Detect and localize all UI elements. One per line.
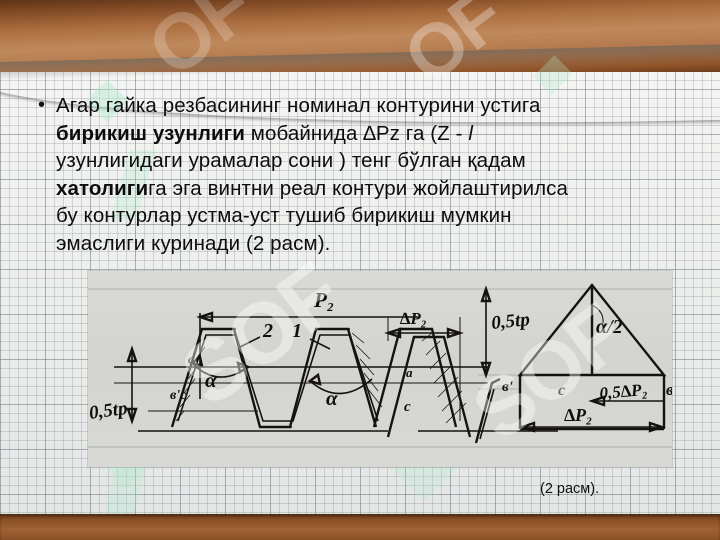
text-line-1: Агар гайка резбасининг номинал контурини… [56,92,568,120]
label-angle-left: α [205,368,217,392]
crest-flats-left [202,329,350,427]
label-point-bc: в'с [170,388,187,403]
label-half-thread-height-left: 0,5tp [88,398,129,424]
symbol-delta-pz: ∆Pz [363,122,400,145]
label-point-b-prime: в' [502,379,513,395]
label-half-thread-height-right: 0,5tp [490,309,531,334]
label-half-angle: α/2 [596,316,623,338]
symbol-l: l [468,122,473,145]
text-line-4: хатолигига эга винтни реал контури жойла… [56,175,568,203]
thread-profile-figure: P₂ ∆P₂ [88,271,672,467]
label-delta-p2-base: ∆P₂ [564,405,592,425]
bottom-strip [0,514,720,540]
leader-profile-2 [240,337,260,347]
text-line-5: бу контурлар устма-уст тушиб бирикиш мум… [56,202,568,230]
slide-canvas: OF OF • Агар гайка резбасининг номинал к… [0,0,720,540]
label-pitch-total: P₂ [313,288,334,312]
bullet-marker: • [38,92,56,119]
text-line-3: узунлигидаги урамалар сони ) тенг бўлган… [56,147,568,175]
bullet-paragraph: Агар гайка резбасининг номинал контурини… [56,92,568,257]
figure-caption: (2 расм). [540,481,599,497]
label-pitch-error: ∆P₂ [400,309,427,328]
label-angle-right: α [326,386,338,410]
bullet-item: • Агар гайка резбасининг номинал контури… [38,92,678,257]
thread-diagram-svg: P₂ ∆P₂ [88,271,672,467]
label-point-b: в [666,380,672,399]
term-xatoligi: хатолиги [56,177,148,200]
text-line-2: бирикиш узунлиги мобайнида ∆Pz га (Z - l [56,120,568,148]
label-profile-2: 2 [262,320,273,342]
scan-rule-lines-right [478,375,520,389]
label-half-pitch-error: 0,5∆P₂ [599,380,649,403]
text-line-6: эмаслиги куринади (2 расм). [56,230,568,258]
label-profile-1: 1 [292,320,302,342]
slide-body: • Агар гайка резбасининг номинал контури… [38,92,678,257]
dimension-half-thread-height-left [128,349,136,421]
label-point-c: c [558,382,565,399]
label-point-c2: c [404,399,411,415]
label-point-a: a [188,352,194,366]
term-birikish-uzunligi: бирикиш узунлиги [56,122,245,145]
label-point-a2: a [406,365,413,380]
